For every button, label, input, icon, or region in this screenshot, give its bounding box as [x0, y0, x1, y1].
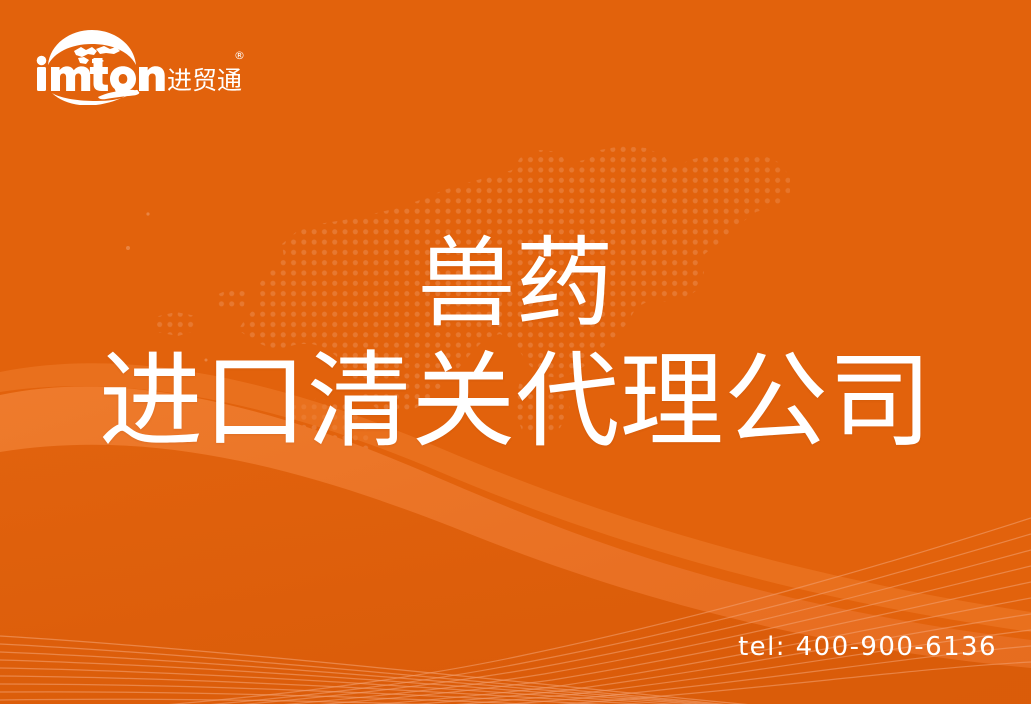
promo-banner: 进贸通 ® 兽药 进口清关代理公司 tel: 400-900-6136 — [0, 0, 1031, 704]
globe-dome-icon — [48, 30, 136, 65]
headline-line-1: 兽药 — [0, 228, 1031, 340]
headline-line-2: 进口清关代理公司 — [0, 342, 1031, 460]
company-logo[interactable]: 进贸通 ® — [34, 27, 249, 105]
logo-chinese-name: 进贸通 — [167, 66, 242, 95]
logo-graphic: 进贸通 ® — [34, 27, 249, 105]
contact-phone: tel: 400-900-6136 — [738, 632, 997, 662]
logo-wordmark-imton — [37, 56, 165, 92]
headline-block: 兽药 进口清关代理公司 — [0, 228, 1031, 460]
registered-mark-icon: ® — [234, 49, 245, 62]
